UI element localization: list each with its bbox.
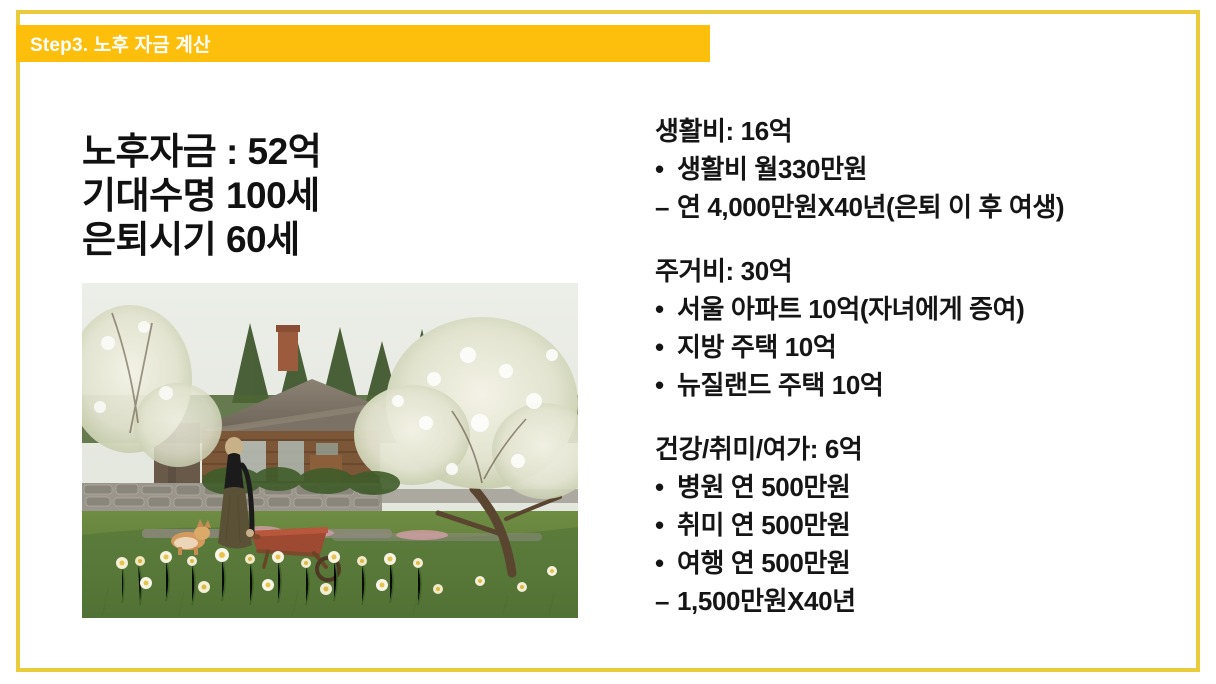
- dash-marker: –: [655, 582, 677, 620]
- list-item: • 서울 아파트 10억(자녀에게 증여): [655, 290, 1195, 328]
- headline-line-1: 노후자금 : 52억: [82, 130, 602, 174]
- list-item-text: 취미 연 500만원: [677, 506, 850, 544]
- expense-group-health-hobby-leisure: 건강/취미/여가: 6억 • 병원 연 500만원 • 취미 연 500만원 •…: [655, 430, 1195, 620]
- slide: Step3. 노후 자금 계산 노후자금 : 52억 기대수명 100세 은퇴시…: [0, 0, 1216, 684]
- garden-photo: [82, 283, 578, 618]
- group-title: 건강/취미/여가: 6억: [655, 430, 1195, 468]
- list-item-text: 병원 연 500만원: [677, 468, 850, 506]
- group-title: 주거비: 30억: [655, 252, 1195, 290]
- list-item-text: 생활비 월330만원: [677, 150, 867, 188]
- bullet-marker: •: [655, 290, 677, 328]
- list-item: • 취미 연 500만원: [655, 506, 1195, 544]
- list-item-text: 지방 주택 10억: [677, 328, 836, 366]
- garden-photo-illustration: [82, 283, 578, 618]
- list-item: • 여행 연 500만원: [655, 544, 1195, 582]
- list-item: – 1,500만원X40년: [655, 582, 1195, 620]
- bullet-marker: •: [655, 328, 677, 366]
- bullet-marker: •: [655, 150, 677, 188]
- list-item: – 연 4,000만원X40년(은퇴 이 후 여생): [655, 188, 1195, 226]
- headline: 노후자금 : 52억 기대수명 100세 은퇴시기 60세: [82, 130, 602, 262]
- expense-group-living: 생활비: 16억 • 생활비 월330만원 – 연 4,000만원X40년(은퇴…: [655, 112, 1195, 226]
- list-item-text: 여행 연 500만원: [677, 544, 850, 582]
- banner-title: Step3. 노후 자금 계산: [16, 30, 211, 57]
- headline-line-3: 은퇴시기 60세: [82, 218, 602, 262]
- bullet-marker: •: [655, 366, 677, 404]
- list-item-text: 서울 아파트 10억(자녀에게 증여): [677, 290, 1024, 328]
- list-item: • 뉴질랜드 주택 10억: [655, 366, 1195, 404]
- title-banner: Step3. 노후 자금 계산: [16, 25, 710, 62]
- list-item: • 병원 연 500만원: [655, 468, 1195, 506]
- list-item: • 지방 주택 10억: [655, 328, 1195, 366]
- bullet-marker: •: [655, 506, 677, 544]
- left-column: 노후자금 : 52억 기대수명 100세 은퇴시기 60세: [82, 130, 602, 262]
- list-item-text: 연 4,000만원X40년(은퇴 이 후 여생): [677, 188, 1064, 226]
- bullet-marker: •: [655, 468, 677, 506]
- dash-marker: –: [655, 188, 677, 226]
- group-title: 생활비: 16억: [655, 112, 1195, 150]
- list-item-text: 뉴질랜드 주택 10억: [677, 366, 883, 404]
- bullet-marker: •: [655, 544, 677, 582]
- list-item: • 생활비 월330만원: [655, 150, 1195, 188]
- expense-group-housing: 주거비: 30억 • 서울 아파트 10억(자녀에게 증여) • 지방 주택 1…: [655, 252, 1195, 404]
- list-item-text: 1,500만원X40년: [677, 582, 856, 620]
- right-column: 생활비: 16억 • 생활비 월330만원 – 연 4,000만원X40년(은퇴…: [655, 112, 1195, 620]
- headline-line-2: 기대수명 100세: [82, 174, 602, 218]
